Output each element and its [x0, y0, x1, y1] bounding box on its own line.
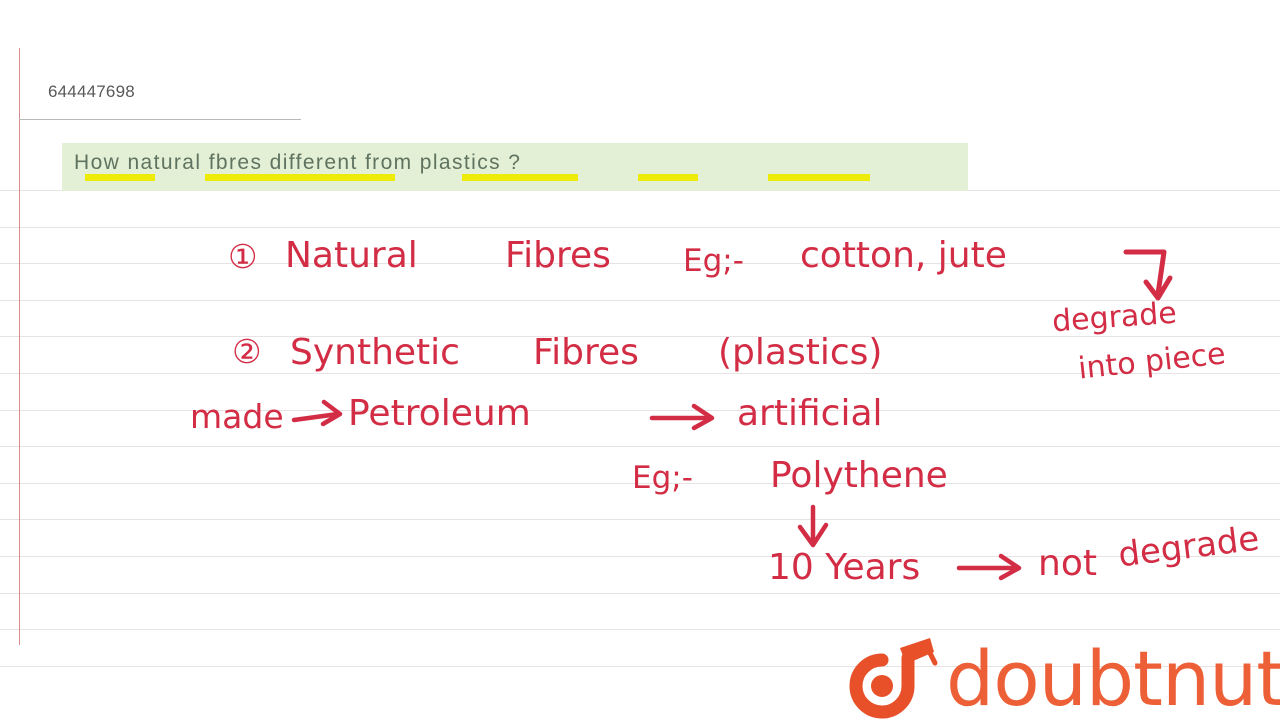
point-2-eg-label: Eg;- [632, 460, 693, 496]
point-1-category: Fibres [505, 235, 611, 276]
arrow-petroleum-to-artificial-icon [648, 398, 720, 432]
polythene-label: Polythene [770, 455, 948, 496]
made-label: made [190, 397, 284, 436]
point-1-examples: cotton, jute [800, 235, 1007, 276]
degrade-note-line-1: degrade [1051, 296, 1178, 340]
point-1-label: Natural [285, 235, 418, 276]
point-2-label: Synthetic [290, 332, 460, 373]
not-degrade-label: degrade [1116, 519, 1261, 576]
petroleum-label: Petroleum [348, 393, 531, 434]
arrow-10years-to-not-degrade-icon [955, 548, 1027, 582]
point-2-category: Fibres [533, 332, 639, 373]
handwritten-solution: ① Natural Fibres Eg;- cotton, jute degra… [0, 0, 1280, 720]
point-2-alias: (plastics) [718, 332, 882, 373]
point-1-eg-label: Eg;- [683, 243, 744, 279]
not-label: not [1038, 543, 1097, 584]
notebook-page: 644447698 How natural fbres different fr… [0, 0, 1280, 720]
ten-years-label: 10 Years [768, 547, 920, 588]
point-2-marker: ② [232, 332, 262, 371]
arrow-polythene-to-10years-icon [792, 503, 838, 551]
doubtnut-wordmark: doubtnut [946, 634, 1280, 720]
doubtnut-d-logo-icon [838, 632, 942, 720]
degrade-note-line-2: into piece [1077, 336, 1228, 386]
doubtnut-logo[interactable]: doubtnut [838, 628, 1280, 720]
point-1-marker: ① [228, 237, 258, 276]
arrow-made-to-petroleum-icon [290, 398, 348, 432]
artificial-label: artificial [737, 393, 883, 434]
